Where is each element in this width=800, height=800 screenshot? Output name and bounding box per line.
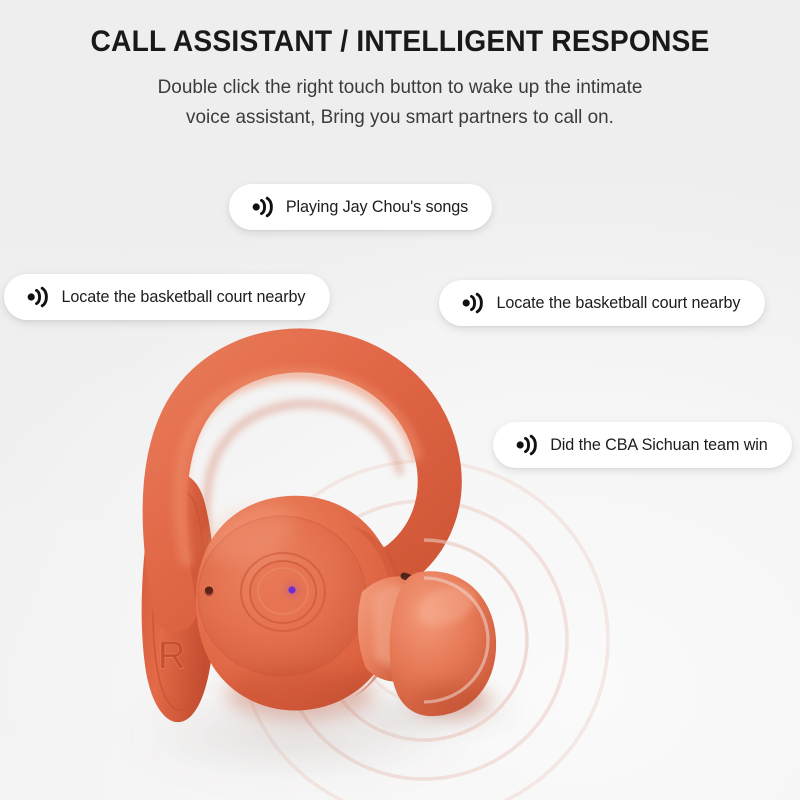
page-title: CALL ASSISTANT / INTELLIGENT RESPONSE [24,0,776,59]
touch-control-button [241,553,325,631]
voice-command-bubble-cba: Did the CBA Sichuan team win [493,422,792,468]
sound-wave-icon [515,434,539,456]
bubble-label: Locate the basketball court nearby [496,294,740,313]
bubble-label: Did the CBA Sichuan team win [550,436,767,455]
subtitle-line-2: voice assistant, Bring you smart partner… [12,102,788,132]
voice-command-bubble-playing: Playing Jay Chou's songs [229,184,492,230]
subtitle-line-1: Double click the right touch button to w… [12,72,788,102]
header: CALL ASSISTANT / INTELLIGENT RESPONSE Do… [0,0,800,132]
sound-wave-icon [26,286,50,308]
subtitle: Double click the right touch button to w… [12,59,788,132]
voice-command-bubble-locate-left: Locate the basketball court nearby [4,274,330,320]
bubble-label: Locate the basketball court nearby [61,288,305,307]
bubble-label: Playing Jay Chou's songs [286,198,468,217]
side-marking-R: R [158,635,185,677]
svg-text:R: R [158,635,185,677]
sound-wave-icon [251,196,275,218]
voice-command-bubble-locate-right: Locate the basketball court nearby [439,280,765,326]
sound-wave-icon [461,292,485,314]
product-feature-banner: R [0,0,800,800]
